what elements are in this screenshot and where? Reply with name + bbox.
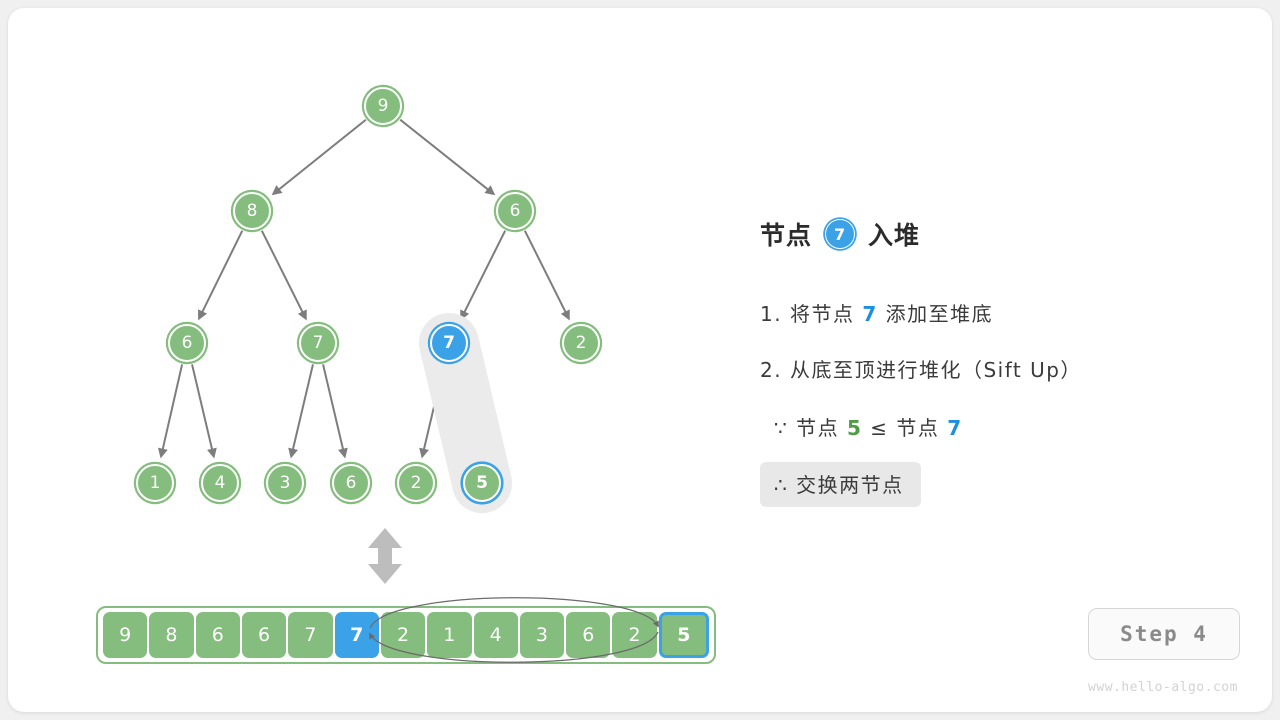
tree-node-n3: 6 [168,324,206,362]
array-cell-7: 1 [427,612,471,658]
array-cell-11: 2 [612,612,656,658]
array-cell-5: 7 [335,612,379,658]
because-symbol: ∵ [774,416,788,440]
array-cell-10: 6 [566,612,610,658]
step-1-value: 7 [862,302,877,326]
conclusion-action: ∴ 交换两节点 [760,462,921,507]
tree-node-n6: 2 [562,324,600,362]
comparison-label-b: 节点 [896,416,939,440]
array-cell-9: 3 [520,612,564,658]
tree-node-n2: 6 [496,192,534,230]
therefore-symbol: ∴ [774,473,788,497]
tree-node-n11: 2 [397,464,435,502]
tree-array-link-arrow [360,526,410,586]
tree-node-n1: 8 [233,192,271,230]
array-cell-8: 4 [474,612,518,658]
conclusion-text: 交换两节点 [796,473,904,497]
step-2-index: 2. [760,358,782,382]
array-representation: 9866772143625 [96,606,716,664]
diagram-card: 9866772143625 9866772143625 节点 7 入堆 [8,8,1272,712]
instruction-step-1: 1. 将节点 7 添加至堆底 [760,298,993,327]
step-1-index: 1. [760,302,782,326]
array-cell-0: 9 [103,612,147,658]
watermark: www.hello-algo.com [1078,680,1248,695]
panel-title-prefix: 节点 [760,216,812,252]
tree-node-n10: 6 [332,464,370,502]
array-cell-3: 6 [242,612,286,658]
array-cell-12: 5 [659,612,709,658]
comparison-operator: ≤ [870,416,888,440]
tree-node-n4: 7 [299,324,337,362]
panel-title-badge: 7 [825,219,855,249]
instruction-step-2: 2. 从底至顶进行堆化（Sift Up） [760,354,1082,383]
step-badge: Step 4 [1088,608,1240,660]
step-2-text: 从底至顶进行堆化（Sift Up） [790,358,1082,382]
comparison-value-b: 7 [947,416,962,440]
panel-title: 节点 7 入堆 [760,214,1230,254]
tree-node-n7: 1 [136,464,174,502]
array-cell-6: 2 [381,612,425,658]
array-cell-2: 6 [196,612,240,658]
comparison-reason: ∵ 节点 5 ≤ 节点 7 [774,412,963,441]
panel-title-suffix: 入堆 [868,216,920,252]
comparison-value-a: 5 [847,416,862,440]
tree-node-n12: 5 [463,464,501,502]
array-cell-4: 7 [288,612,332,658]
canvas: 9866772143625 9866772143625 节点 7 入堆 [0,0,1280,720]
tree-node-n5: 7 [430,324,468,362]
binary-tree-diagram: 9866772143625 [8,8,738,568]
step-1-text-before: 将节点 [790,302,855,326]
comparison-label-a: 节点 [796,416,839,440]
array-cell-1: 8 [149,612,193,658]
tree-node-n8: 4 [201,464,239,502]
tree-node-n9: 3 [266,464,304,502]
step-1-text-after: 添加至堆底 [886,302,994,326]
tree-node-n0: 9 [364,87,402,125]
explanation-panel: 节点 7 入堆 1. 将节点 7 添加至堆底 2. 从底至顶进行堆化（Sift … [760,214,1230,254]
